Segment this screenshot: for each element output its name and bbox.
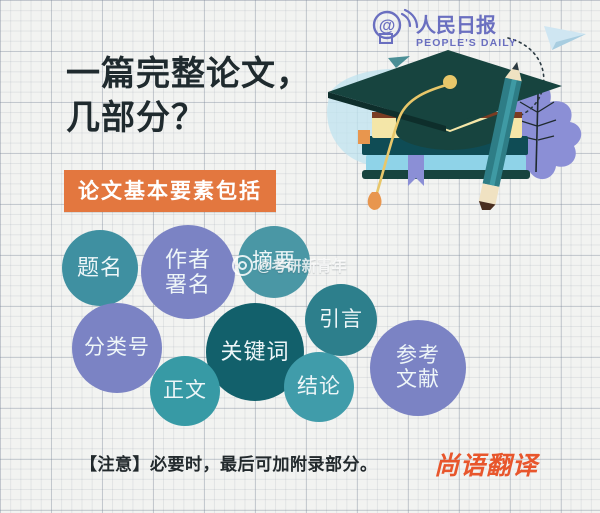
element-bubble: 结论 <box>284 352 354 422</box>
peoples-daily-logo: @ 人民日报 PEOPLE'S DAILY <box>372 8 522 54</box>
brand-mark: 尚语翻译 <box>434 446 538 482</box>
element-bubble: 作者 署名 <box>141 225 235 319</box>
footnote-text: 【注意】必要时，最后可加附录部分。 <box>80 450 378 475</box>
page-title: 一篇完整论文， 几部分？ <box>66 52 356 140</box>
element-bubble: 参考 文献 <box>370 320 466 416</box>
section-banner: 论文基本要素包括 <box>64 170 276 212</box>
element-bubble: 引言 <box>305 284 377 356</box>
element-bubble: 摘要 <box>238 226 310 298</box>
element-bubble: 分类号 <box>72 303 162 393</box>
element-bubble: 题名 <box>62 230 138 306</box>
element-bubble: 正文 <box>150 356 220 426</box>
svg-text:@: @ <box>379 16 396 35</box>
logo-en-text: PEOPLE'S DAILY <box>416 37 517 49</box>
logo-cn-text: 人民日报 <box>416 13 496 37</box>
poster-canvas: @ 人民日报 PEOPLE'S DAILY 一篇完整论文， 几部分？ 论文基本要… <box>0 0 600 513</box>
